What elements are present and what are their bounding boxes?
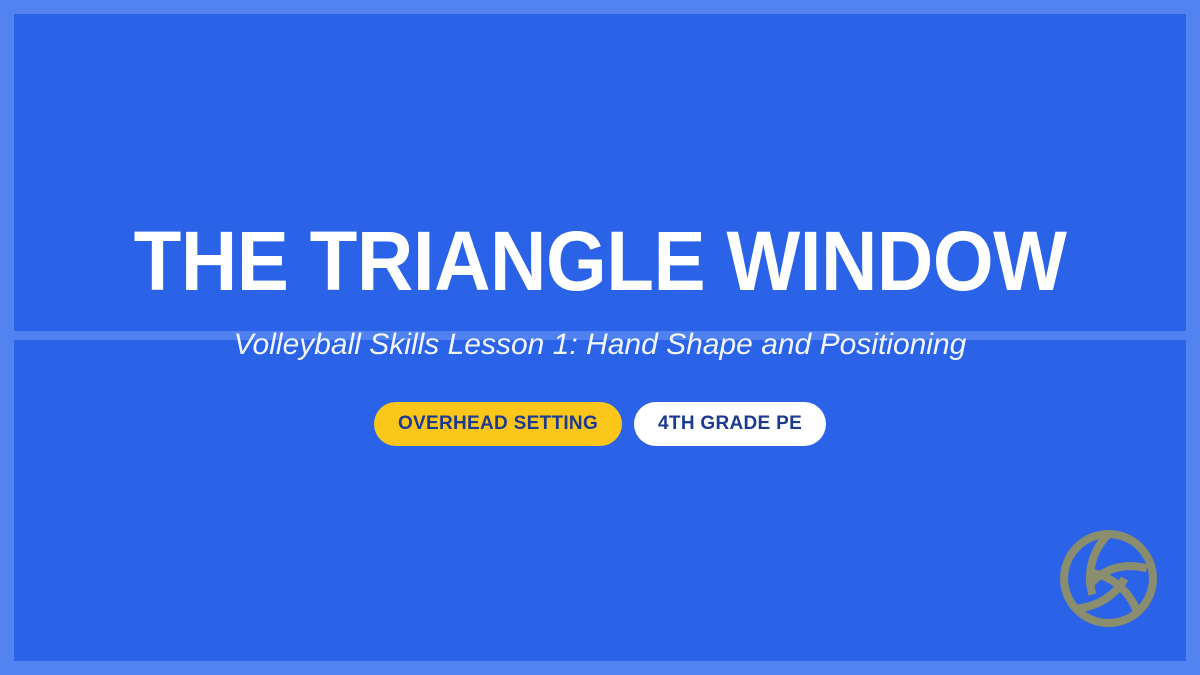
slide-content: THE TRIANGLE WINDOW Volleyball Skills Le…: [0, 0, 1200, 675]
page-title: THE TRIANGLE WINDOW: [42, 219, 1158, 303]
slide-subtitle: Volleyball Skills Lesson 1: Hand Shape a…: [0, 328, 1200, 362]
badge-row: OVERHEAD SETTING 4TH GRADE PE: [0, 402, 1200, 446]
status-badge-grade-level: 4TH GRADE PE: [634, 402, 826, 446]
status-badge-overhead-setting: OVERHEAD SETTING: [374, 402, 622, 446]
volleyball-icon: [1058, 528, 1159, 629]
title-slide: THE TRIANGLE WINDOW Volleyball Skills Le…: [0, 0, 1200, 675]
